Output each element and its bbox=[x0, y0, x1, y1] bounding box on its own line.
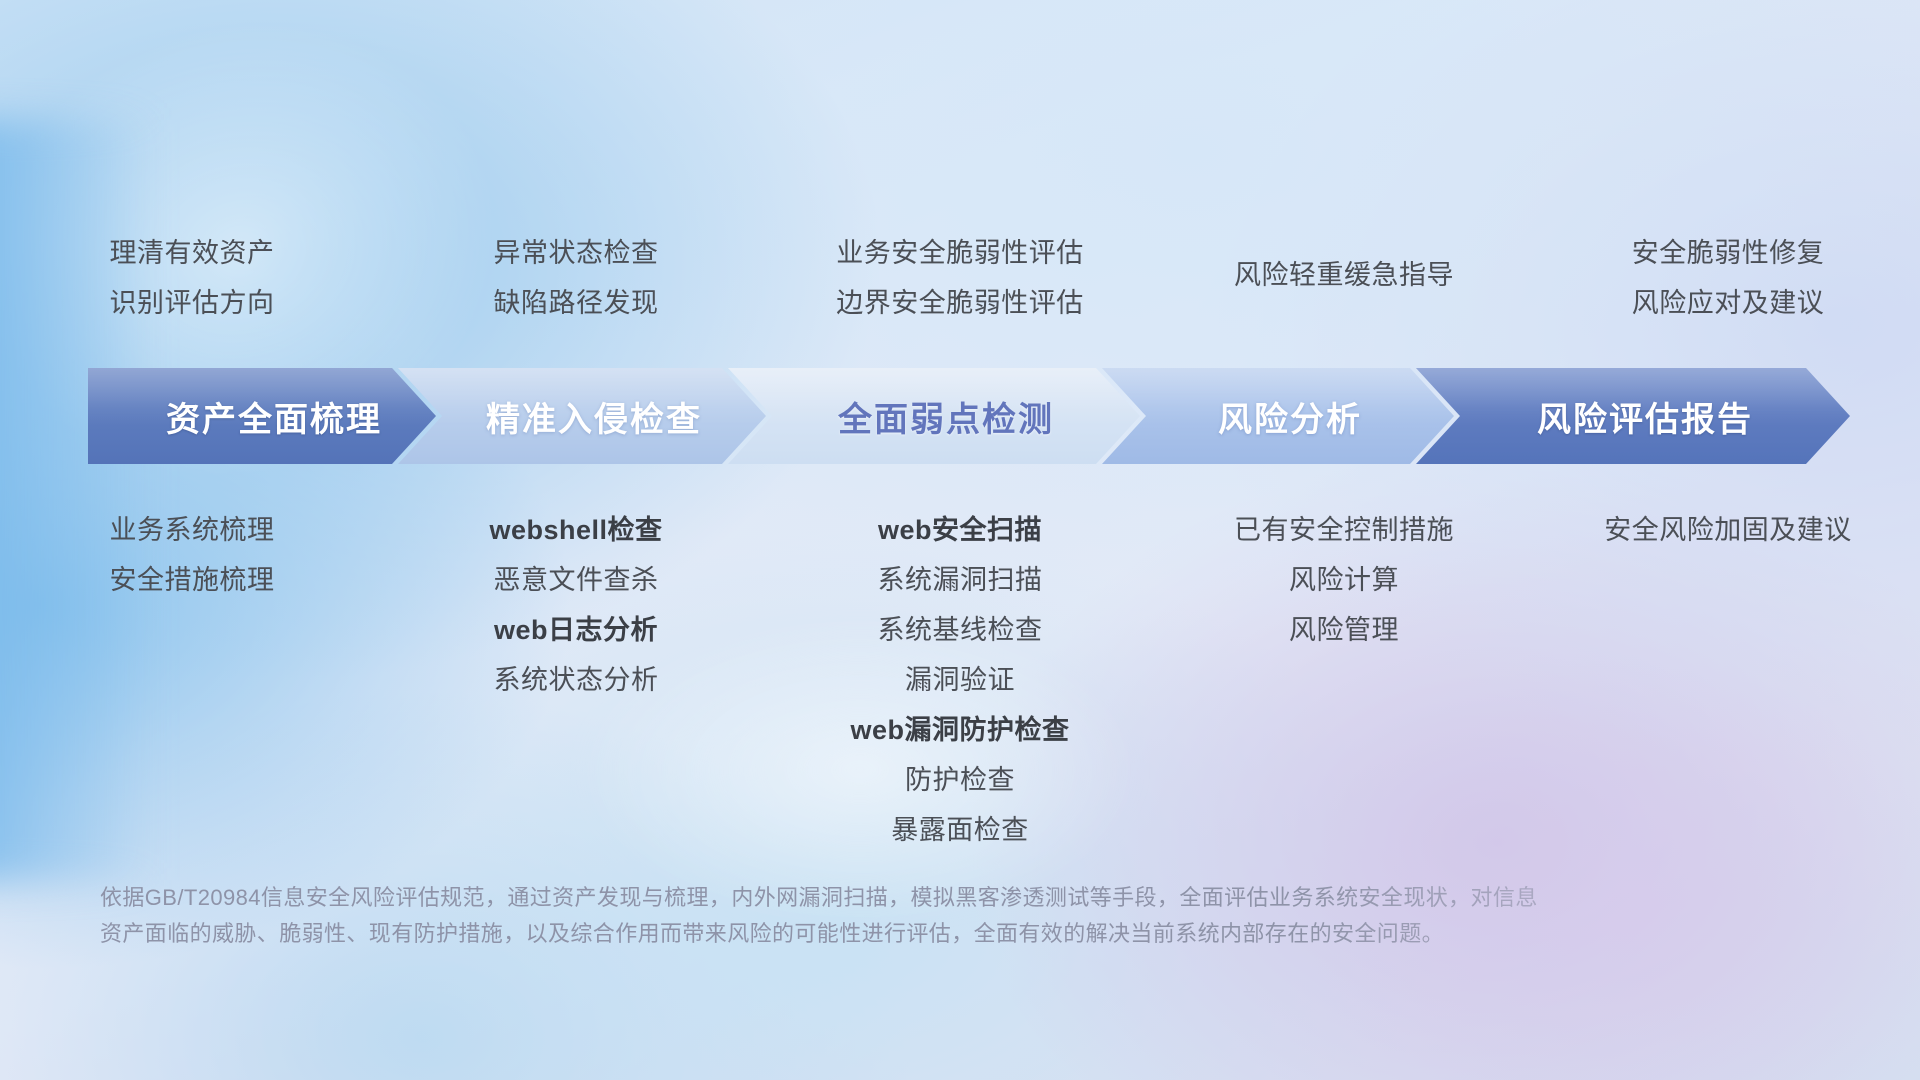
process-arrow-label: 全面弱点检测 bbox=[838, 392, 1054, 441]
stage-above-labels: 理清有效资产 识别评估方向 异常状态检查 缺陷路径发现 业务安全脆弱性评估 边界… bbox=[0, 228, 1920, 328]
above-label: 安全脆弱性修复 bbox=[1536, 228, 1920, 278]
process-arrow-stage-2[interactable]: 精准入侵检查 bbox=[398, 368, 766, 464]
below-label: 系统基线检查 bbox=[768, 605, 1152, 655]
above-label: 业务安全脆弱性评估 bbox=[768, 228, 1152, 278]
process-arrow-stage-5[interactable]: 风险评估报告 bbox=[1416, 368, 1850, 464]
above-label: 理清有效资产 bbox=[0, 228, 384, 278]
process-arrow-label: 精准入侵检查 bbox=[486, 392, 702, 441]
stage-above-column-2: 异常状态检查 缺陷路径发现 bbox=[384, 228, 768, 328]
below-label: web日志分析 bbox=[384, 605, 768, 655]
stage-above-column-4: 风险轻重缓急指导 bbox=[1152, 250, 1536, 350]
below-label: 防护检查 bbox=[768, 755, 1152, 805]
below-label: 恶意文件查杀 bbox=[384, 555, 768, 605]
process-arrow-label: 风险评估报告 bbox=[1537, 392, 1753, 441]
above-label: 边界安全脆弱性评估 bbox=[768, 278, 1152, 328]
below-label: webshell检查 bbox=[384, 505, 768, 555]
above-label: 风险轻重缓急指导 bbox=[1152, 250, 1536, 300]
below-label: 风险计算 bbox=[1152, 555, 1536, 605]
below-label: web安全扫描 bbox=[768, 505, 1152, 555]
below-label: 系统状态分析 bbox=[384, 655, 768, 705]
below-label: 系统漏洞扫描 bbox=[768, 555, 1152, 605]
process-arrow-stage-3[interactable]: 全面弱点检测 bbox=[728, 368, 1140, 464]
above-label: 异常状态检查 bbox=[384, 228, 768, 278]
above-label: 风险应对及建议 bbox=[1536, 278, 1920, 328]
process-arrow-label: 风险分析 bbox=[1218, 392, 1362, 441]
below-label: web漏洞防护检查 bbox=[768, 705, 1152, 755]
stage-below-column-5: 安全风险加固及建议 bbox=[1536, 505, 1920, 855]
process-arrow-banner: 资产全面梳理 精准入侵检查 全面弱点检测 风险分析 风险评估报告 bbox=[88, 368, 1850, 464]
below-label: 安全风险加固及建议 bbox=[1536, 505, 1920, 555]
below-label: 暴露面检查 bbox=[768, 805, 1152, 855]
stage-above-column-3: 业务安全脆弱性评估 边界安全脆弱性评估 bbox=[768, 228, 1152, 328]
below-label: 安全措施梳理 bbox=[0, 555, 384, 605]
stage-below-column-1: 业务系统梳理 安全措施梳理 bbox=[0, 505, 384, 855]
stage-below-column-4: 已有安全控制措施 风险计算 风险管理 bbox=[1152, 505, 1536, 855]
footer-line: 依据GB/T20984信息安全风险评估规范，通过资产发现与梳理，内外网漏洞扫描，… bbox=[100, 880, 1740, 916]
process-arrow-stage-1[interactable]: 资产全面梳理 bbox=[88, 368, 436, 464]
footer-description: 依据GB/T20984信息安全风险评估规范，通过资产发现与梳理，内外网漏洞扫描，… bbox=[100, 880, 1740, 952]
footer-line: 资产面临的威胁、脆弱性、现有防护措施，以及综合作用而带来风险的可能性进行评估，全… bbox=[100, 916, 1740, 952]
below-label: 已有安全控制措施 bbox=[1152, 505, 1536, 555]
slide-canvas: 理清有效资产 识别评估方向 异常状态检查 缺陷路径发现 业务安全脆弱性评估 边界… bbox=[0, 0, 1920, 1080]
stage-above-column-5: 安全脆弱性修复 风险应对及建议 bbox=[1536, 228, 1920, 328]
stage-below-column-3: web安全扫描 系统漏洞扫描 系统基线检查 漏洞验证 web漏洞防护检查 防护检… bbox=[768, 505, 1152, 855]
process-arrow-label: 资产全面梳理 bbox=[166, 392, 382, 441]
above-label: 识别评估方向 bbox=[0, 278, 384, 328]
stage-below-labels: 业务系统梳理 安全措施梳理 webshell检查 恶意文件查杀 web日志分析 … bbox=[0, 505, 1920, 855]
below-label: 漏洞验证 bbox=[768, 655, 1152, 705]
above-label: 缺陷路径发现 bbox=[384, 278, 768, 328]
below-label: 业务系统梳理 bbox=[0, 505, 384, 555]
stage-below-column-2: webshell检查 恶意文件查杀 web日志分析 系统状态分析 bbox=[384, 505, 768, 855]
below-label: 风险管理 bbox=[1152, 605, 1536, 655]
stage-above-column-1: 理清有效资产 识别评估方向 bbox=[0, 228, 384, 328]
process-arrow-stage-4[interactable]: 风险分析 bbox=[1102, 368, 1454, 464]
